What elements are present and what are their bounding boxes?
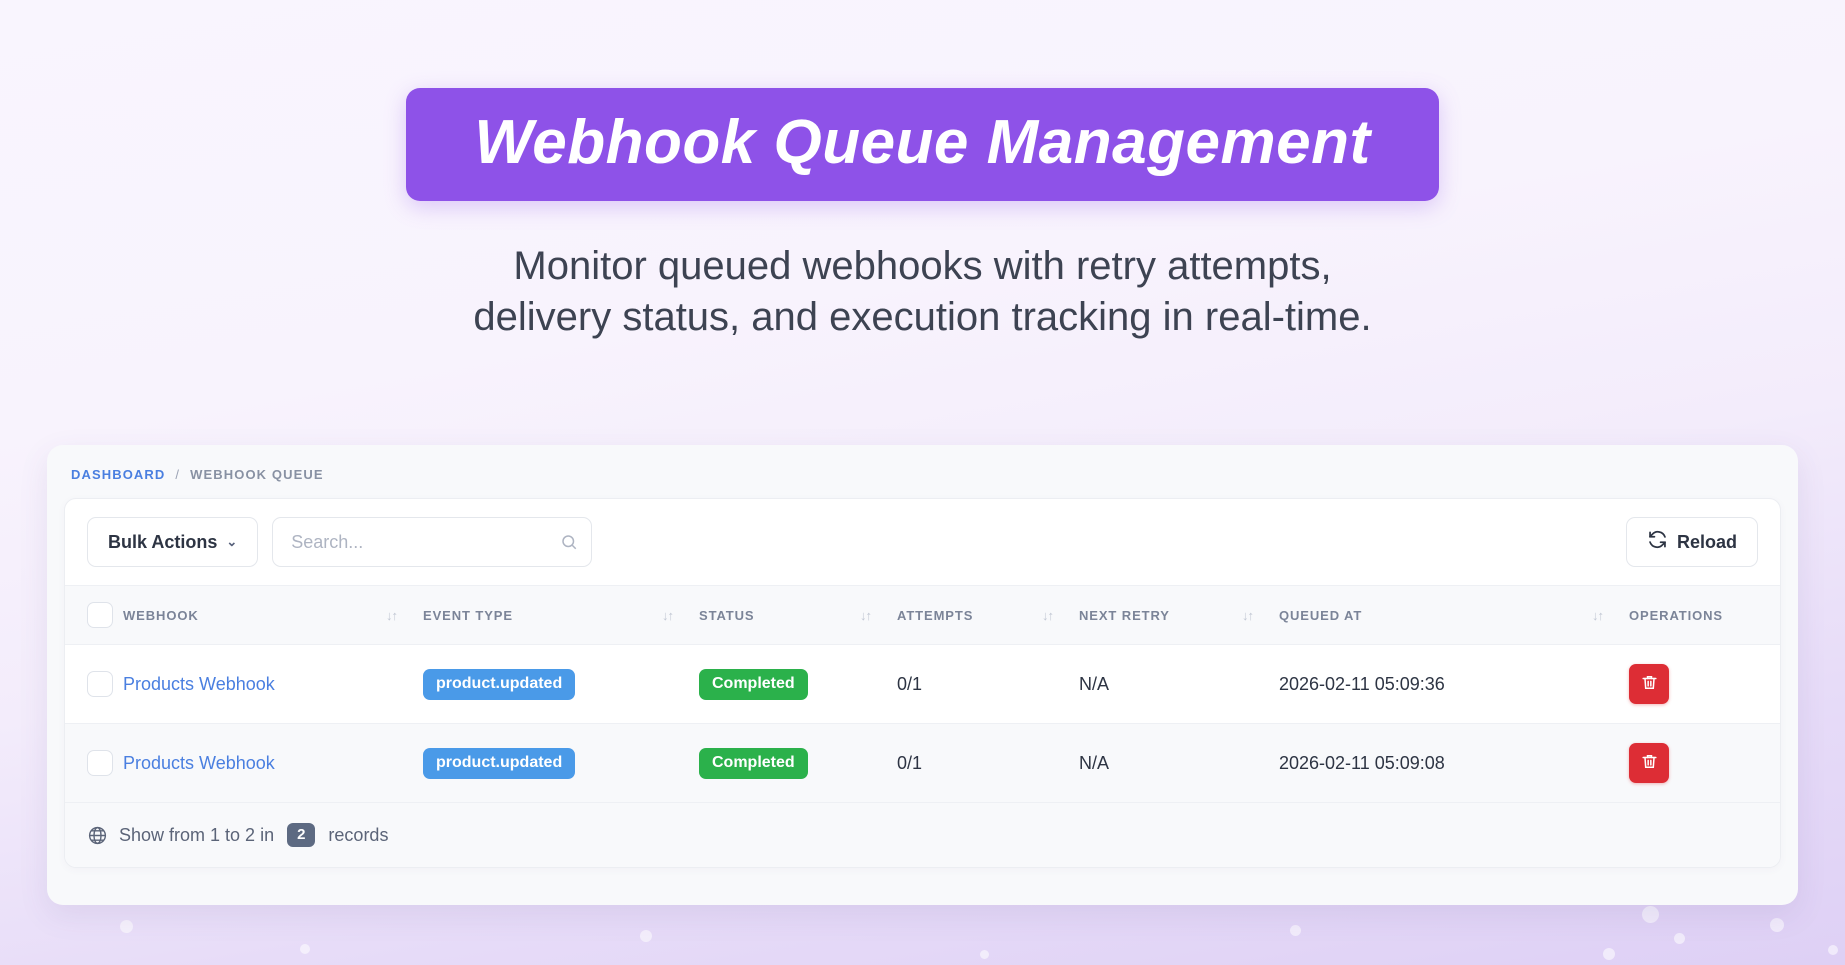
cell-event-type: product.updated (423, 645, 699, 724)
title-banner: Webhook Queue Management (406, 88, 1438, 201)
breadcrumb-separator: / (175, 467, 180, 482)
sort-icon[interactable]: ↓↑ (1042, 608, 1053, 623)
webhook-queue-table: WEBHOOK ↓↑ EVENT TYPE ↓↑ STATUS ↓↑ (65, 585, 1781, 803)
cell-next-retry: N/A (1079, 724, 1279, 803)
header-select-all (65, 586, 123, 645)
sort-icon[interactable]: ↓↑ (1592, 608, 1603, 623)
cell-attempts: 0/1 (897, 724, 1079, 803)
record-count-badge: 2 (287, 823, 315, 847)
chevron-down-icon: ⌄ (226, 534, 237, 550)
bulk-actions-label: Bulk Actions (108, 532, 217, 553)
cell-operations (1629, 645, 1781, 724)
cell-next-retry: N/A (1079, 645, 1279, 724)
cell-attempts: 0/1 (897, 645, 1079, 724)
header-operations-label: OPERATIONS (1629, 608, 1723, 623)
header-webhook-label: WEBHOOK (123, 608, 199, 623)
cell-webhook: Products Webhook (123, 645, 423, 724)
header-event-type[interactable]: EVENT TYPE ↓↑ (423, 586, 699, 645)
bubble (640, 930, 652, 942)
cell-event-type: product.updated (423, 724, 699, 803)
sort-icon[interactable]: ↓↑ (662, 608, 673, 623)
globe-icon (87, 825, 108, 846)
header-webhook[interactable]: WEBHOOK ↓↑ (123, 586, 423, 645)
header-attempts-label: ATTEMPTS (897, 608, 973, 623)
table-toolbar: Bulk Actions ⌄ (65, 499, 1780, 585)
row-checkbox[interactable] (87, 671, 113, 697)
trash-icon (1640, 752, 1659, 774)
delete-button[interactable] (1629, 743, 1669, 783)
table-footer: Show from 1 to 2 in 2 records (65, 803, 1780, 867)
header-attempts[interactable]: ATTEMPTS ↓↑ (897, 586, 1079, 645)
cell-queued-at: 2026-02-11 05:09:08 (1279, 724, 1629, 803)
row-checkbox[interactable] (87, 750, 113, 776)
header-status-label: STATUS (699, 608, 754, 623)
status-badge: Completed (699, 748, 808, 779)
cell-status: Completed (699, 645, 897, 724)
breadcrumb: DASHBOARD / WEBHOOK QUEUE (64, 467, 1781, 482)
breadcrumb-dashboard[interactable]: DASHBOARD (71, 467, 165, 482)
cell-status: Completed (699, 724, 897, 803)
row-select-cell (65, 724, 123, 803)
page-subtitle: Monitor queued webhooks with retry attem… (223, 241, 1623, 343)
bubble (120, 920, 133, 933)
bubble (980, 950, 989, 959)
cell-queued-at: 2026-02-11 05:09:36 (1279, 645, 1629, 724)
header-operations: OPERATIONS (1629, 586, 1781, 645)
search-icon (560, 533, 578, 551)
header-queued-at-label: QUEUED AT (1279, 608, 1362, 623)
event-type-badge: product.updated (423, 748, 575, 779)
bubble (1828, 945, 1838, 955)
refresh-icon (1647, 529, 1668, 555)
row-select-cell (65, 645, 123, 724)
sort-icon[interactable]: ↓↑ (386, 608, 397, 623)
webhook-link[interactable]: Products Webhook (123, 674, 275, 694)
webhook-link[interactable]: Products Webhook (123, 753, 275, 773)
header-status[interactable]: STATUS ↓↑ (699, 586, 897, 645)
footer-text-before: Show from 1 to 2 in (119, 825, 274, 846)
delete-button[interactable] (1629, 664, 1669, 704)
event-type-badge: product.updated (423, 669, 575, 700)
header-next-retry-label: NEXT RETRY (1079, 608, 1170, 623)
table-row: Products Webhook product.updated Complet… (65, 724, 1781, 803)
hero-section: Webhook Queue Management Monitor queued … (0, 0, 1845, 343)
footer-text-after: records (328, 825, 388, 846)
reload-button[interactable]: Reload (1626, 517, 1758, 567)
status-badge: Completed (699, 669, 808, 700)
webhook-queue-panel: Bulk Actions ⌄ (64, 498, 1781, 868)
reload-label: Reload (1677, 532, 1737, 553)
search-input[interactable] (272, 517, 592, 567)
table-body: Products Webhook product.updated Complet… (65, 645, 1781, 803)
cell-operations (1629, 724, 1781, 803)
table-row: Products Webhook product.updated Complet… (65, 645, 1781, 724)
bubble (1290, 925, 1301, 936)
bubble (1770, 918, 1784, 932)
bubble (1674, 933, 1685, 944)
page-title: Webhook Queue Management (474, 110, 1370, 175)
bulk-actions-button[interactable]: Bulk Actions ⌄ (87, 517, 258, 567)
table-head: WEBHOOK ↓↑ EVENT TYPE ↓↑ STATUS ↓↑ (65, 586, 1781, 645)
search-field-wrapper (272, 517, 592, 567)
sort-icon[interactable]: ↓↑ (860, 608, 871, 623)
trash-icon (1640, 673, 1659, 695)
bubble (1642, 906, 1659, 923)
bubble (300, 944, 310, 954)
bubble (1603, 948, 1615, 960)
cell-webhook: Products Webhook (123, 724, 423, 803)
page-card: DASHBOARD / WEBHOOK QUEUE Bulk Actions ⌄ (47, 445, 1798, 905)
table-header-row: WEBHOOK ↓↑ EVENT TYPE ↓↑ STATUS ↓↑ (65, 586, 1781, 645)
header-next-retry[interactable]: NEXT RETRY ↓↑ (1079, 586, 1279, 645)
sort-icon[interactable]: ↓↑ (1242, 608, 1253, 623)
select-all-checkbox[interactable] (87, 602, 113, 628)
header-queued-at[interactable]: QUEUED AT ↓↑ (1279, 586, 1629, 645)
breadcrumb-current: WEBHOOK QUEUE (190, 467, 323, 482)
header-event-type-label: EVENT TYPE (423, 608, 513, 623)
